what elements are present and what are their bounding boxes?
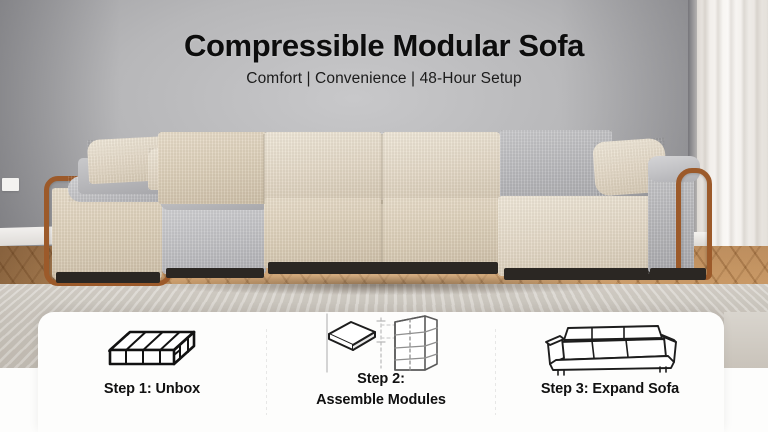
- step-item-3[interactable]: Step 3: Expand Sofa: [496, 312, 724, 432]
- page-title: Compressible Modular Sofa: [0, 28, 768, 64]
- step-2-label-block: Step 2: Assemble Modules: [267, 370, 495, 409]
- module-grid-assembly-icon: [321, 318, 441, 370]
- poster-header: Compressible Modular Sofa Comfort | Conv…: [0, 28, 768, 88]
- seat-seam-1: [381, 200, 383, 266]
- right-chaise-plinth: [504, 268, 672, 280]
- back-seam-2: [381, 134, 383, 204]
- step-item-2[interactable]: Step 2: Assemble Modules: [267, 312, 495, 432]
- expanded-sofa-icon: [540, 318, 680, 380]
- step-item-1[interactable]: Step 1: Unbox: [38, 312, 266, 432]
- right-arm-wood-frame: [676, 168, 712, 280]
- main-plinth: [268, 262, 498, 274]
- left-chaise-plinth: [166, 268, 264, 278]
- back-cushion-1: [158, 132, 268, 204]
- left-arm-plinth: [56, 272, 160, 283]
- back-seam-1: [263, 134, 265, 204]
- step-1-label: Step 1: Unbox: [104, 380, 200, 398]
- step-3-label: Step 3: Expand Sofa: [541, 380, 679, 398]
- right-chaise-seat: [498, 196, 670, 276]
- seat-cushion-1: [264, 198, 382, 268]
- step-2-label-line1: Step 2:: [357, 370, 405, 388]
- step-2-label-line2: Assemble Modules: [316, 391, 446, 409]
- page-subtitle: Comfort | Convenience | 48-Hour Setup: [0, 70, 768, 88]
- back-cushion-2: [264, 132, 382, 206]
- steps-row: Step 1: Unbox: [38, 312, 724, 432]
- seat-cushion-2: [382, 198, 500, 268]
- back-cushion-3: [382, 132, 500, 206]
- right-arm-plinth: [650, 268, 706, 280]
- compressed-sofa-box-icon: [104, 318, 200, 380]
- poster-canvas: Compressible Modular Sofa Comfort | Conv…: [0, 0, 768, 432]
- rug-peek-right: [724, 312, 768, 368]
